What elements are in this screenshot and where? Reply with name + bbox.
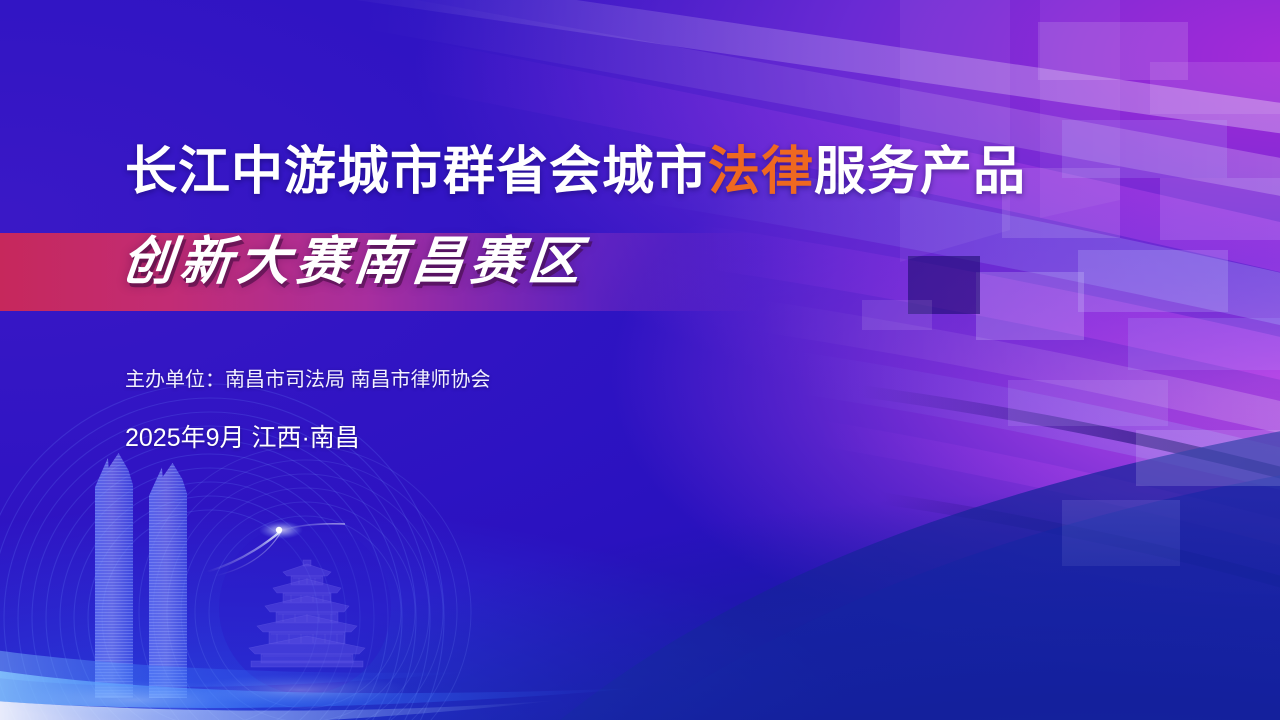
- title-line1-highlight: 法律: [708, 143, 814, 201]
- title-line1-part2: 服务产品: [814, 143, 1026, 201]
- text-content: 长江中游城市群省会城市法律服务产品 创新大赛南昌赛区 主办单位：南昌市司法局 南…: [0, 0, 1280, 720]
- event-banner: 长江中游城市群省会城市法律服务产品 创新大赛南昌赛区 主办单位：南昌市司法局 南…: [0, 0, 1280, 720]
- date-place-line: 2025年9月 江西·南昌: [125, 418, 360, 454]
- page-title-line2: 创新大赛南昌赛区: [119, 236, 588, 288]
- title-line1-part1: 长江中游城市群省会城市: [125, 143, 708, 201]
- organizer-line: 主办单位：南昌市司法局 南昌市律师协会: [125, 363, 491, 392]
- page-title-line1: 长江中游城市群省会城市法律服务产品: [125, 146, 1026, 198]
